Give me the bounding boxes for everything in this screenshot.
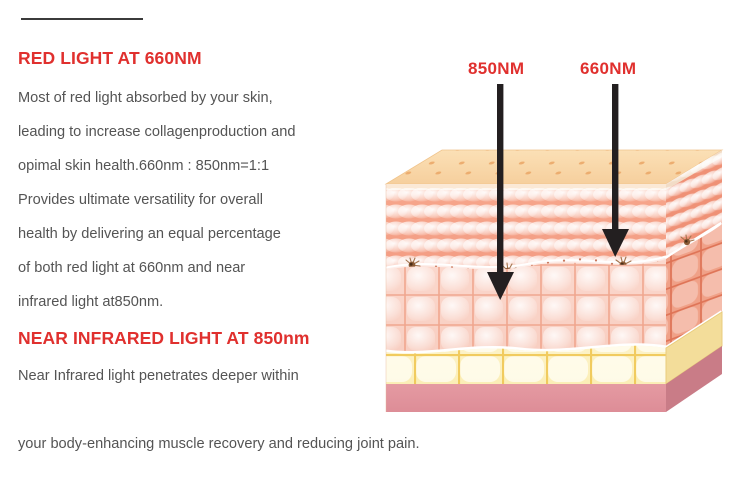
heading-near-infrared: NEAR INFRARED LIGHT AT 850nm	[18, 326, 418, 350]
paragraph-line: of both red light at 660nm and near	[18, 251, 418, 285]
paragraph-line: leading to increase collagenproduction a…	[18, 115, 418, 149]
label-850nm: 850NM	[468, 59, 524, 79]
heading-red-light: RED LIGHT AT 660NM	[18, 46, 418, 70]
paragraph-line: Provides ultimate versatility for overal…	[18, 183, 418, 217]
paragraph-near-infrared: Near Infrared light penetrates deeper wi…	[18, 359, 418, 393]
text-column: RED LIGHT AT 660NM Most of red light abs…	[18, 46, 418, 393]
paragraph-line: opimal skin health.660nm : 850nm=1:1	[18, 149, 418, 183]
paragraph-line: health by delivering an equal percentage	[18, 217, 418, 251]
paragraph-line: Most of red light absorbed by your skin,	[18, 81, 418, 115]
paragraph-red-light: Most of red light absorbed by your skin,…	[18, 81, 418, 319]
paragraph-line: Near Infrared light penetrates deeper wi…	[18, 359, 418, 393]
top-divider-rule	[21, 18, 143, 20]
paragraph-line: infrared light at850nm.	[18, 285, 418, 319]
muscle-layer	[386, 384, 666, 412]
paragraph-near-infrared-wide: your body-enhancing muscle recovery and …	[18, 434, 420, 454]
skin-surface-layer	[386, 150, 722, 184]
infographic-page: RED LIGHT AT 660NM Most of red light abs…	[0, 0, 750, 487]
skin-cross-section-diagram	[370, 84, 750, 424]
label-660nm: 660NM	[580, 59, 636, 79]
